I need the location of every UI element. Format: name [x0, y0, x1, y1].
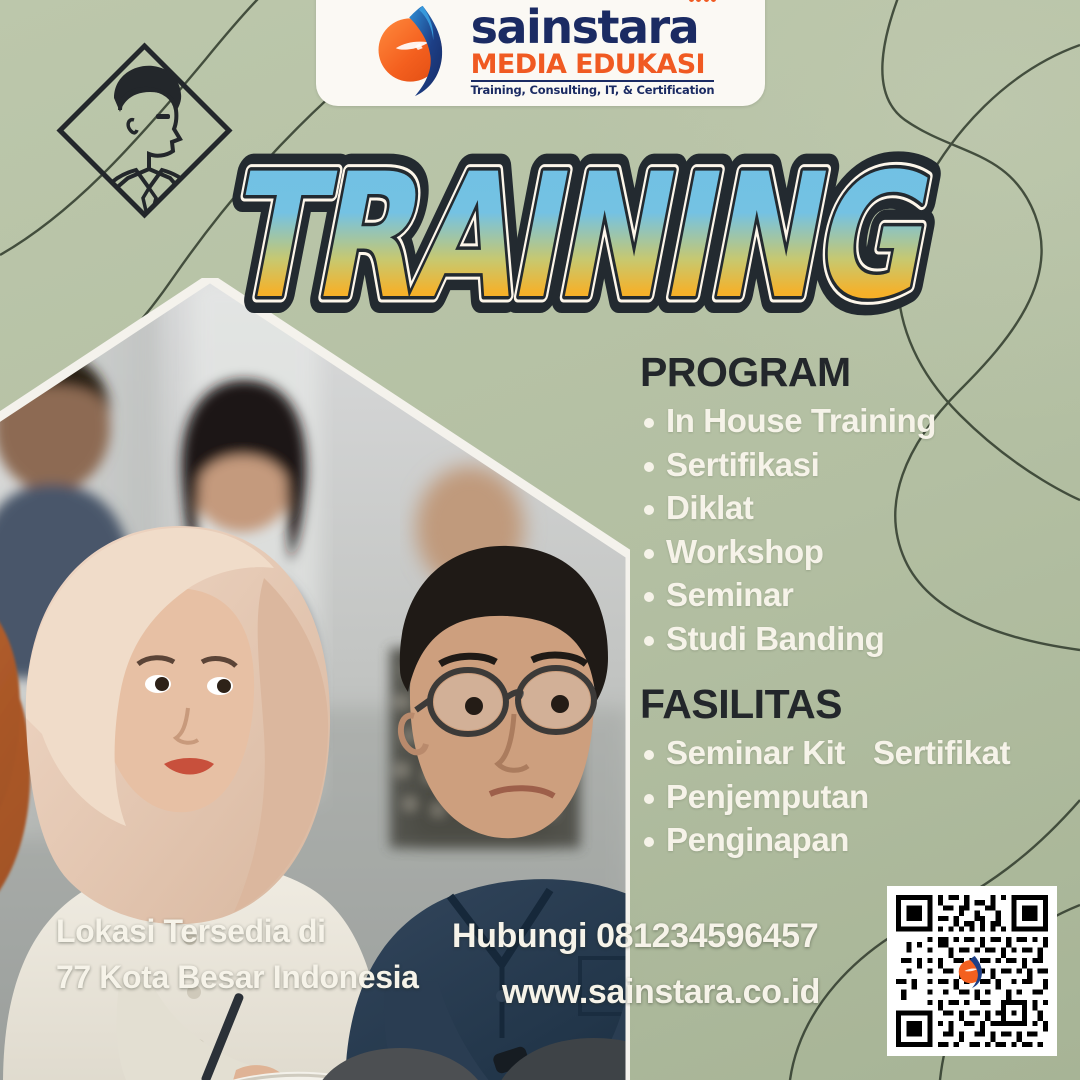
location-line-2: 77 Kota Besar Indonesia [56, 954, 419, 1000]
logo-dots-icon [689, 0, 717, 2]
list-item: Sertifikasi [640, 443, 1070, 487]
fasilitas-section: FASILITAS Seminar KitSertifikat Penjempu… [640, 684, 1070, 862]
fasilitas-list: Seminar KitSertifikat Penjemputan Pengin… [640, 731, 1070, 862]
contact-phone: Hubungi 081234596457 [452, 908, 820, 964]
qr-center-logo [955, 954, 989, 988]
brand-logo-badge[interactable]: sainstara MEDIA EDUKASI Training, Consul… [316, 0, 765, 106]
list-item: Penjemputan [640, 775, 1070, 819]
contact-website[interactable]: www.sainstara.co.id [502, 964, 820, 1020]
program-list: In House Training Sertifikasi Diklat Wor… [640, 399, 1070, 660]
list-item-extra: Sertifikat [873, 734, 1010, 771]
fasilitas-heading: FASILITAS [640, 684, 1070, 725]
page-title: TRAINING TRAINING TRAINING TRAINING [0, 128, 1080, 328]
training-poster: sainstara MEDIA EDUKASI Training, Consul… [0, 0, 1080, 1080]
list-item: Seminar KitSertifikat [640, 731, 1070, 775]
list-item: Workshop [640, 530, 1070, 574]
svg-text:TRAINING: TRAINING [217, 136, 946, 328]
list-item: In House Training [640, 399, 1070, 443]
program-section: PROGRAM In House Training Sertifikasi Di… [640, 352, 1070, 660]
location-text: Lokasi Tersedia di 77 Kota Besar Indones… [56, 908, 419, 1000]
logo-wordmark: sainstara [471, 4, 715, 50]
logo-subtitle: MEDIA EDUKASI [471, 51, 715, 82]
list-item: Studi Banding [640, 617, 1070, 661]
list-item: Penginapan [640, 818, 1070, 862]
program-heading: PROGRAM [640, 352, 1070, 393]
qr-code[interactable] [887, 886, 1057, 1056]
list-item: Seminar [640, 573, 1070, 617]
list-item: Diklat [640, 486, 1070, 530]
list-item-label: Seminar Kit [666, 734, 845, 771]
logo-tagline: Training, Consulting, IT, & Certificatio… [471, 85, 715, 97]
info-column: PROGRAM In House Training Sertifikasi Di… [640, 352, 1070, 862]
sainstara-flame-logo [367, 2, 463, 98]
contact-text: Hubungi 081234596457 www.sainstara.co.id [452, 908, 820, 1020]
location-line-1: Lokasi Tersedia di [56, 908, 419, 954]
